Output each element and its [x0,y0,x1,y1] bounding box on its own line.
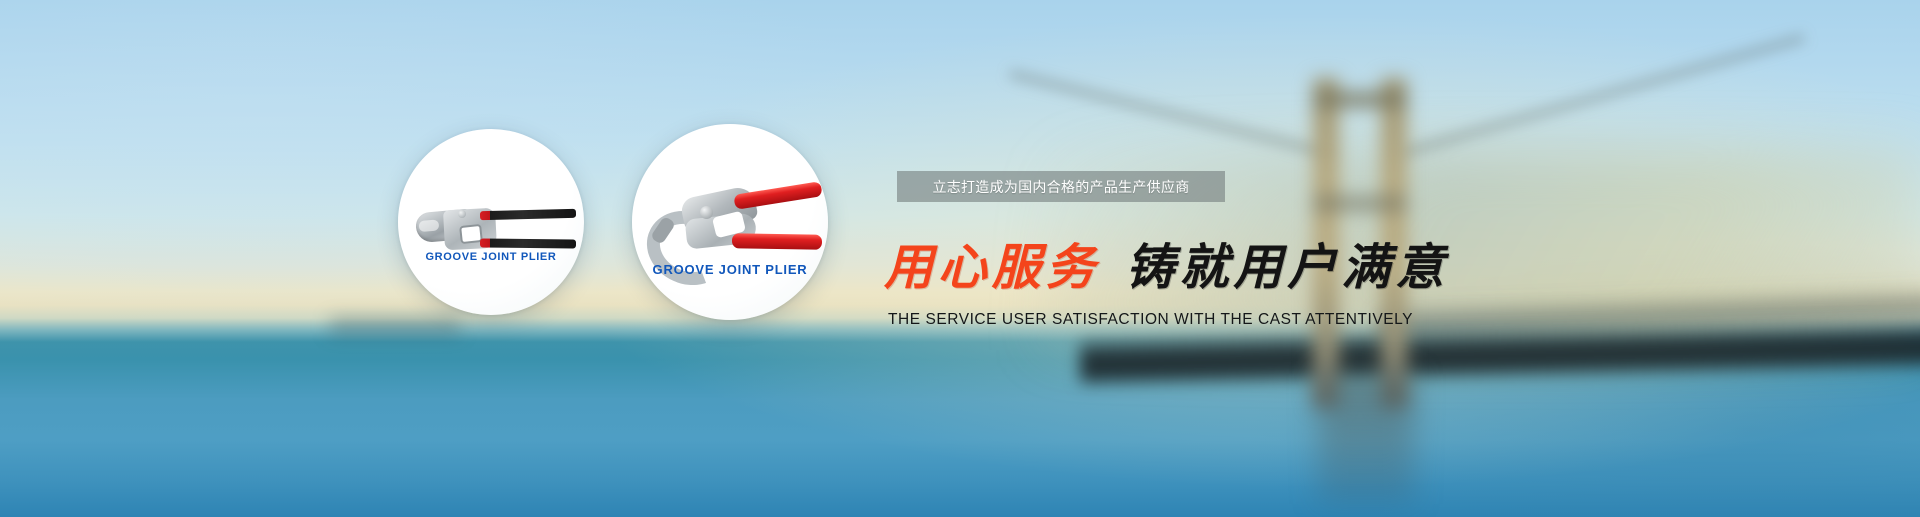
headline-secondary: 铸就用户满意 [1126,240,1449,295]
plier-pivot [700,206,713,219]
tagline-text: 立志打造成为国内合格的产品生产供应商 [932,177,1189,197]
plier-handle-upper [480,209,576,221]
headline-subtitle-english: THE SERVICE USER SATISFACTION WITH THE C… [888,311,1413,329]
bridge-tower-crossbeam-middle [1313,196,1407,211]
plier-handle-upper [733,181,822,210]
product-caption: GROOVE JOINT PLIER [632,262,828,277]
bridge-pier-shadow [1318,374,1414,504]
tagline-bar: 立志打造成为国内合格的产品生产供应商 [897,171,1225,202]
product-circle-2[interactable]: GROOVE JOINT PLIER [632,124,828,320]
product-caption: GROOVE JOINT PLIER [398,251,584,263]
headline: 用心服务铸就用户满意 [884,243,1449,292]
headline-primary: 用心服务 [884,240,1100,295]
bridge-tower-crossbeam-top [1313,92,1407,107]
plier-handle-lower [732,233,822,250]
plier-handle-lower [480,238,576,248]
product-circle-1[interactable]: GROOVE JOINT PLIER [398,129,584,315]
groove-joint-plier-icon [646,176,818,272]
horizon-smudge-left [330,318,460,334]
plier-pivot [458,210,466,218]
hero-banner: GROOVE JOINT PLIER GROOVE JOINT PLIER 立志… [0,0,1920,517]
